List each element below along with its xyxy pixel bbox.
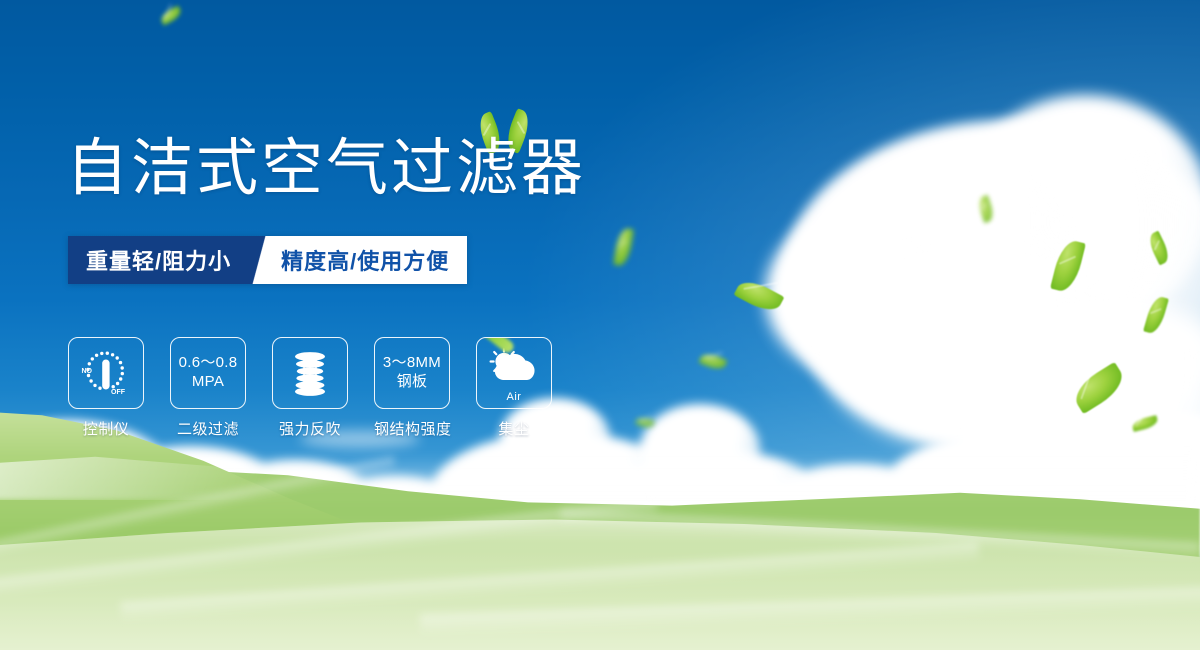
- page-title: 自洁式空气过滤器: [66, 138, 586, 200]
- feature-item-reverse-blow[interactable]: 强力反吹: [272, 337, 348, 439]
- feature-item-controller[interactable]: NO OFF 控制仪: [68, 337, 144, 439]
- subtitle-bar: 重量轻/阻力小 精度高/使用方便: [68, 236, 467, 284]
- pressure-value-line2: MPA: [192, 373, 224, 392]
- feature-icon-box: Air: [476, 337, 552, 409]
- feature-item-steel-strength[interactable]: 3～8MM 钢板 钢结构强度: [374, 337, 450, 439]
- feature-icon-box: 0.6～0.8 MPA: [170, 337, 246, 409]
- feature-label: 强力反吹: [272, 418, 348, 439]
- feature-label: 控制仪: [68, 418, 144, 439]
- grass-field: [0, 420, 1200, 650]
- steel-value-line2: 钢板: [397, 373, 428, 392]
- feature-item-dust-collection[interactable]: Air 集尘: [476, 337, 552, 439]
- feature-label: 集尘: [476, 418, 552, 439]
- feature-label: 钢结构强度: [374, 418, 450, 439]
- feature-icon-box: NO OFF: [68, 337, 144, 409]
- subtitle-right-text: 精度高/使用方便: [277, 236, 467, 284]
- feature-icon-box: [272, 337, 348, 409]
- gauge-icon: NO OFF: [75, 344, 137, 402]
- pressure-value-line1: 0.6～0.8: [179, 354, 238, 373]
- steel-value-line1: 3～8MM: [383, 354, 441, 373]
- feature-icon-box: 3～8MM 钢板: [374, 337, 450, 409]
- gauge-no-label: NO: [82, 368, 93, 375]
- feature-label: 二级过滤: [170, 418, 246, 439]
- feature-list: NO OFF 控制仪 0.6～0.8 MPA 二级过滤: [68, 337, 578, 439]
- gauge-off-label: OFF: [111, 389, 126, 396]
- cloud-wisp: [1052, 330, 1122, 346]
- product-hero-banner: 自洁式空气过滤器 重量轻/阻力小 精度高/使用方便: [0, 0, 1200, 650]
- subtitle-left-text: 重量轻/阻力小: [68, 236, 247, 284]
- feature-item-two-stage-filter[interactable]: 0.6～0.8 MPA 二级过滤: [170, 337, 246, 439]
- filter-rings-icon: [279, 344, 341, 402]
- air-label: Air: [477, 391, 551, 403]
- subtitle-divider: [247, 236, 277, 284]
